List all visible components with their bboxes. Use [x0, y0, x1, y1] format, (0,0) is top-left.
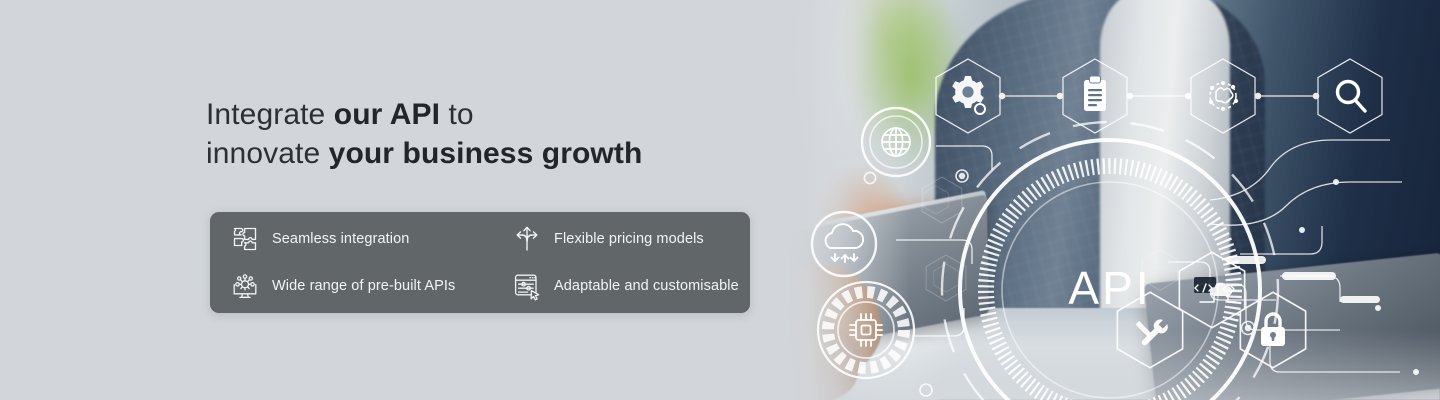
- left-background-panel: [0, 0, 790, 400]
- hero-photograph: [740, 0, 1440, 400]
- headline-line1-plain: Integrate: [206, 98, 334, 131]
- headline-line2-bold: your business growth: [329, 137, 643, 170]
- monitor-gear-network-icon: [230, 271, 260, 301]
- headline-line1-bold: our API: [334, 98, 440, 131]
- puzzle-pieces-icon: [230, 224, 260, 254]
- headline-line1-tail: to: [440, 98, 474, 131]
- headline-line-1: Integrate our API to: [206, 95, 642, 134]
- feature-item-adaptable-customisable: Adaptable and customisable: [492, 271, 750, 301]
- headline-block: Integrate our API to innovate your busin…: [206, 95, 642, 173]
- feature-item-flexible-pricing-models: Flexible pricing models: [492, 224, 750, 254]
- feature-highlights-panel: Seamless integration Flexible pricing mo…: [210, 212, 750, 313]
- branching-arrows-icon: [512, 224, 542, 254]
- headline-line2-plain: innovate: [206, 137, 329, 170]
- feature-label: Adaptable and customisable: [554, 278, 739, 294]
- feature-label: Seamless integration: [272, 231, 409, 247]
- feature-label: Wide range of pre-built APIs: [272, 278, 455, 294]
- headline-line-2: innovate your business growth: [206, 134, 642, 173]
- feature-item-seamless-integration: Seamless integration: [210, 224, 492, 254]
- feature-item-prebuilt-apis: Wide range of pre-built APIs: [210, 271, 492, 301]
- feature-label: Flexible pricing models: [554, 231, 704, 247]
- settings-sliders-cursor-icon: [512, 271, 542, 301]
- api-hero-banner: API: [0, 0, 1440, 400]
